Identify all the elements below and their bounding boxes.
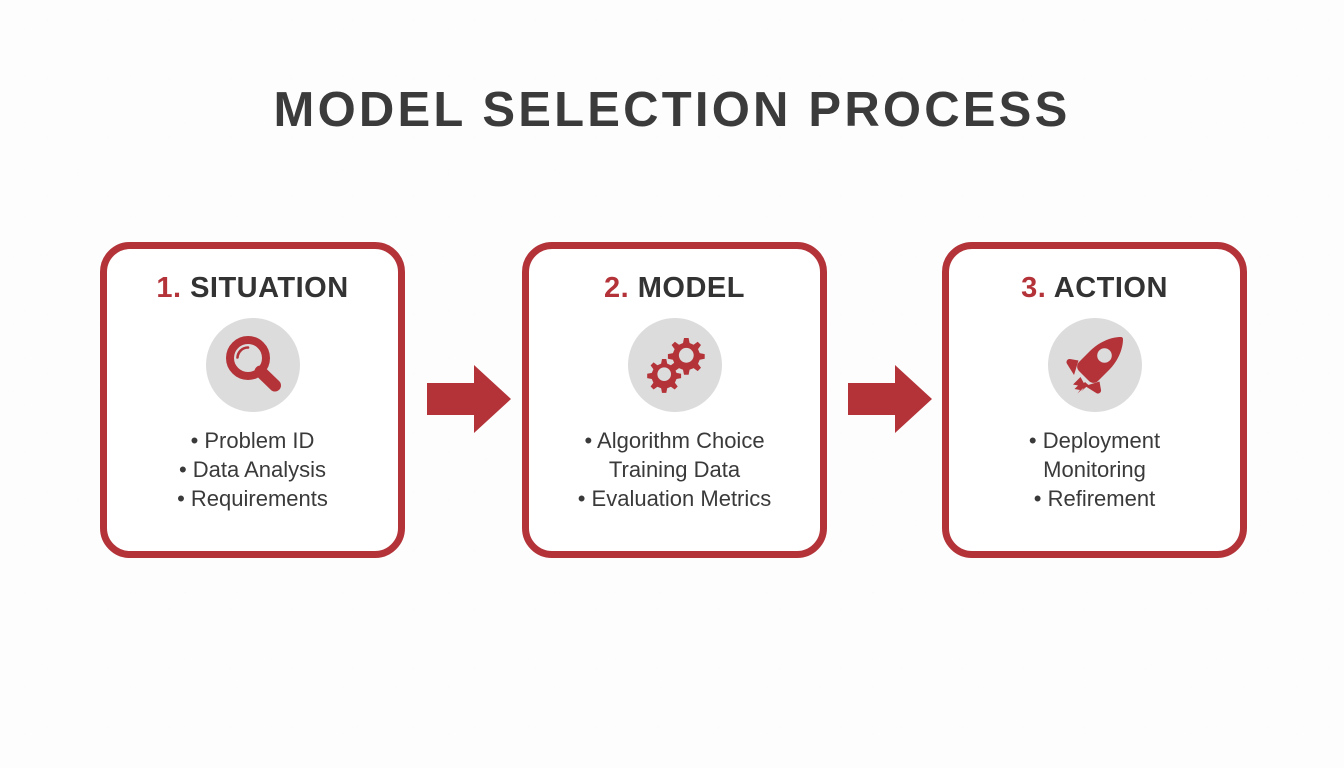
gears-icon (628, 318, 722, 412)
rocket-icon (1048, 318, 1142, 412)
step-number-3: 3. (1021, 272, 1046, 304)
step-card-situation[interactable]: 1. SITUATION • Problem ID • Data Analysi… (100, 242, 405, 558)
bullet-item: • Data Analysis (107, 455, 398, 484)
bullet-item: Training Data (529, 455, 820, 484)
process-flow: 1. SITUATION • Problem ID • Data Analysi… (100, 242, 1244, 558)
magnifier-icon (206, 318, 300, 412)
arrow-right-2 (848, 365, 932, 433)
step-bullets-3: • Deployment Monitoring • Refirement (949, 426, 1240, 513)
bullet-item: Monitoring (949, 455, 1240, 484)
step-bullets-1: • Problem ID • Data Analysis • Requireme… (107, 426, 398, 513)
step-card-model[interactable]: 2. MODEL • Algorithm Choice Training Dat… (522, 242, 827, 558)
bullet-item: • Problem ID (107, 426, 398, 455)
step-title-3: 3. ACTION (1021, 274, 1168, 303)
step-number-2: 2. (604, 272, 629, 304)
bullet-item: • Deployment (949, 426, 1240, 455)
step-title-1: 1. SITUATION (156, 274, 348, 303)
step-number-1: 1. (156, 272, 181, 304)
bullet-item: • Refirement (949, 484, 1240, 513)
bullet-item: • Algorithm Choice (529, 426, 820, 455)
page-title: MODEL SELECTION PROCESS (0, 86, 1344, 135)
bullet-item: • Evaluation Metrics (529, 484, 820, 513)
arrow-right-1 (427, 365, 511, 433)
bullet-item: • Requirements (107, 484, 398, 513)
step-name-1: SITUATION (190, 272, 349, 304)
step-bullets-2: • Algorithm Choice Training Data • Evalu… (529, 426, 820, 513)
step-card-action[interactable]: 3. ACTION • Deployment (942, 242, 1247, 558)
step-title-2: 2. MODEL (604, 274, 745, 303)
step-name-3: ACTION (1054, 272, 1168, 304)
step-name-2: MODEL (638, 272, 745, 304)
